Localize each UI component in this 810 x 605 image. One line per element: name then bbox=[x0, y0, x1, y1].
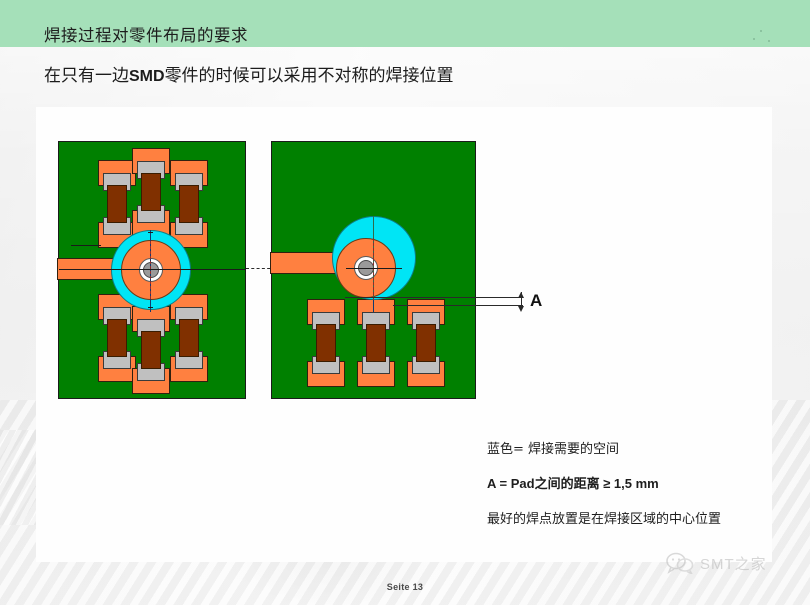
slide-canvas: 焊接过程对零件布局的要求 在只有一边SMD零件的时候可以采用不对称的焊接位置 bbox=[0, 0, 810, 605]
smd-component bbox=[98, 294, 136, 382]
wechat-icon bbox=[666, 552, 694, 574]
smd-component bbox=[407, 299, 445, 387]
component-body bbox=[416, 324, 436, 362]
component-body bbox=[179, 319, 199, 357]
centerline-vertical-lower bbox=[373, 300, 374, 312]
component-body bbox=[141, 173, 161, 211]
centerline-vertical-dashed bbox=[373, 238, 374, 300]
dimension-extension-line-upper bbox=[345, 297, 523, 298]
crosshair-tick bbox=[148, 307, 153, 308]
component-body bbox=[141, 331, 161, 369]
legend-block: 蓝色= 焊接需要的空间 A = Pad之间的距离 ≥ 1,5 mm 最好的焊点放… bbox=[487, 438, 757, 527]
smd-component bbox=[132, 148, 170, 236]
legend-item-clearance: 蓝色= 焊接需要的空间 bbox=[487, 438, 757, 457]
smd-component bbox=[170, 160, 208, 248]
centerline-horizontal bbox=[346, 268, 402, 269]
header-speck bbox=[753, 38, 755, 40]
centerline-horizontal bbox=[59, 269, 245, 270]
component-body bbox=[316, 324, 336, 362]
smd-component bbox=[132, 306, 170, 394]
dimension-extension-line-lower bbox=[393, 305, 523, 306]
component-body bbox=[107, 319, 127, 357]
page-title: 焊接过程对零件布局的要求 bbox=[44, 22, 248, 46]
crosshair-tick bbox=[148, 232, 153, 233]
dimension-label-a: A bbox=[530, 291, 542, 311]
subtitle-part-before: 在只有一边 bbox=[44, 66, 129, 86]
pcb-board-asymmetric bbox=[271, 141, 476, 399]
header-speck bbox=[760, 30, 762, 32]
pcb-board-symmetric bbox=[58, 141, 246, 399]
centerline-vertical-dashed bbox=[150, 241, 151, 299]
subtitle-part-after: 零件的时候可以采用不对称的焊接位置 bbox=[165, 66, 454, 86]
page-number: Seite 13 bbox=[0, 582, 810, 592]
component-body bbox=[366, 324, 386, 362]
through-hole bbox=[143, 262, 159, 278]
subtitle-part-bold: SMD bbox=[129, 68, 165, 85]
legend-item-dimension: A = Pad之间的距离 ≥ 1,5 mm bbox=[487, 473, 757, 492]
silkscreen-line bbox=[71, 245, 101, 246]
component-body bbox=[179, 185, 199, 223]
watermark: SMT之家 bbox=[666, 552, 767, 574]
component-body bbox=[107, 185, 127, 223]
header-speck bbox=[768, 40, 770, 42]
smd-component bbox=[357, 299, 395, 387]
watermark-text: SMT之家 bbox=[700, 553, 767, 574]
page-subtitle: 在只有一边SMD零件的时候可以采用不对称的焊接位置 bbox=[44, 61, 454, 86]
legend-item-best-practice: 最好的焊点放置是在焊接区域的中心位置 bbox=[487, 508, 757, 527]
smd-component bbox=[307, 299, 345, 387]
dimension-arrowheads bbox=[515, 289, 529, 315]
smd-component bbox=[170, 294, 208, 382]
